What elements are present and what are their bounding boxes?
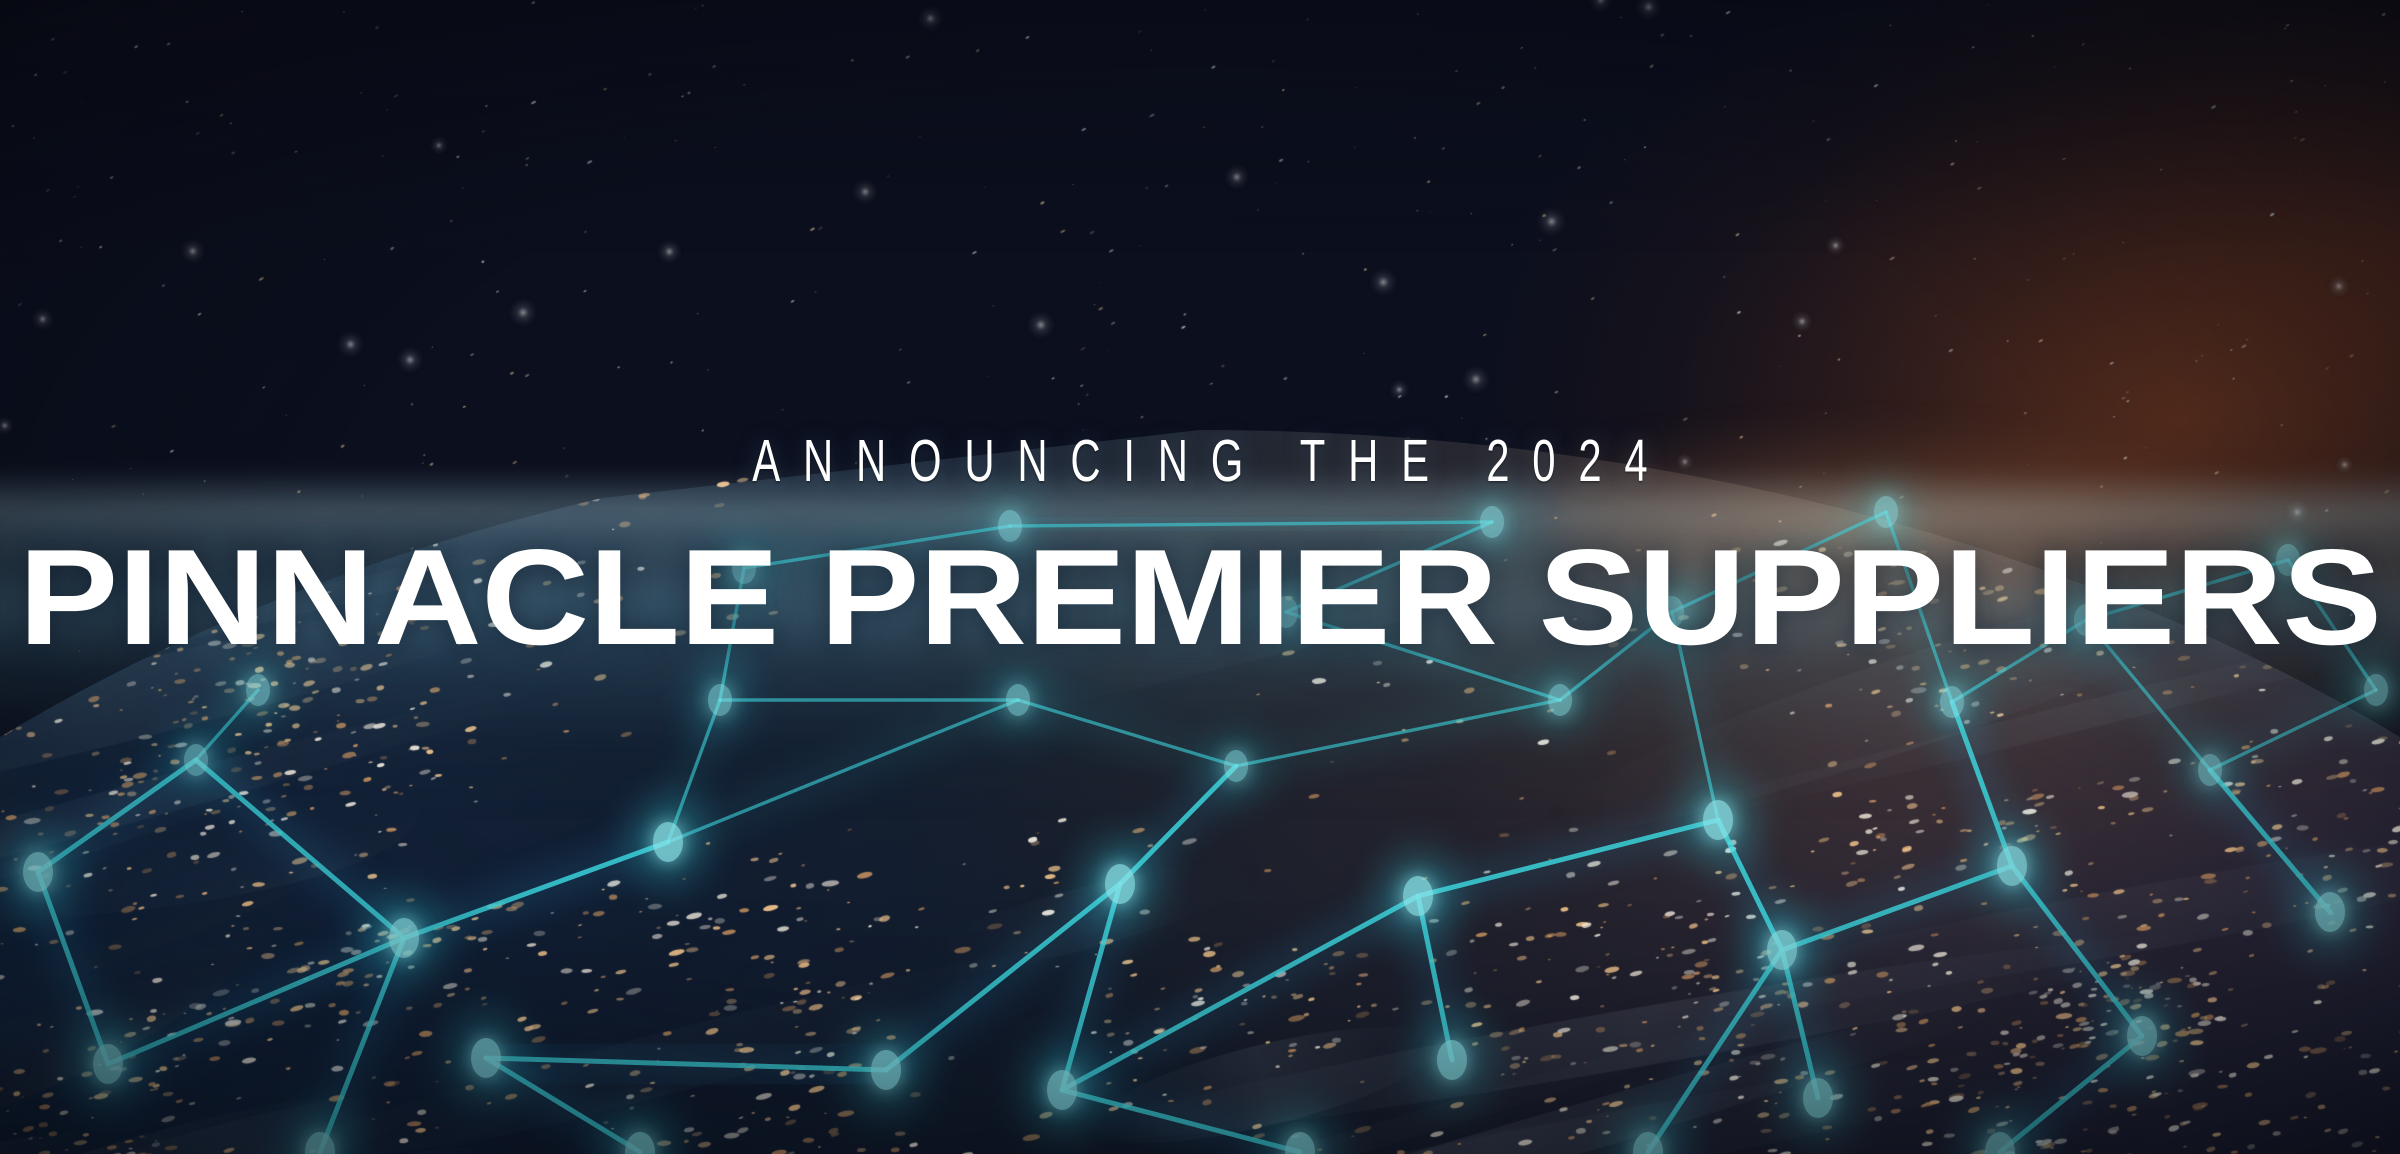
announcement-banner: ANNOUNCING THE 2024 PINNACLE PREMIER SUP… (0, 0, 2400, 1154)
banner-copy: ANNOUNCING THE 2024 PINNACLE PREMIER SUP… (0, 438, 2400, 664)
page-title: PINNACLE PREMIER SUPPLIERS (0, 531, 2400, 664)
eyebrow-text: ANNOUNCING THE 2024 (84, 431, 2316, 490)
